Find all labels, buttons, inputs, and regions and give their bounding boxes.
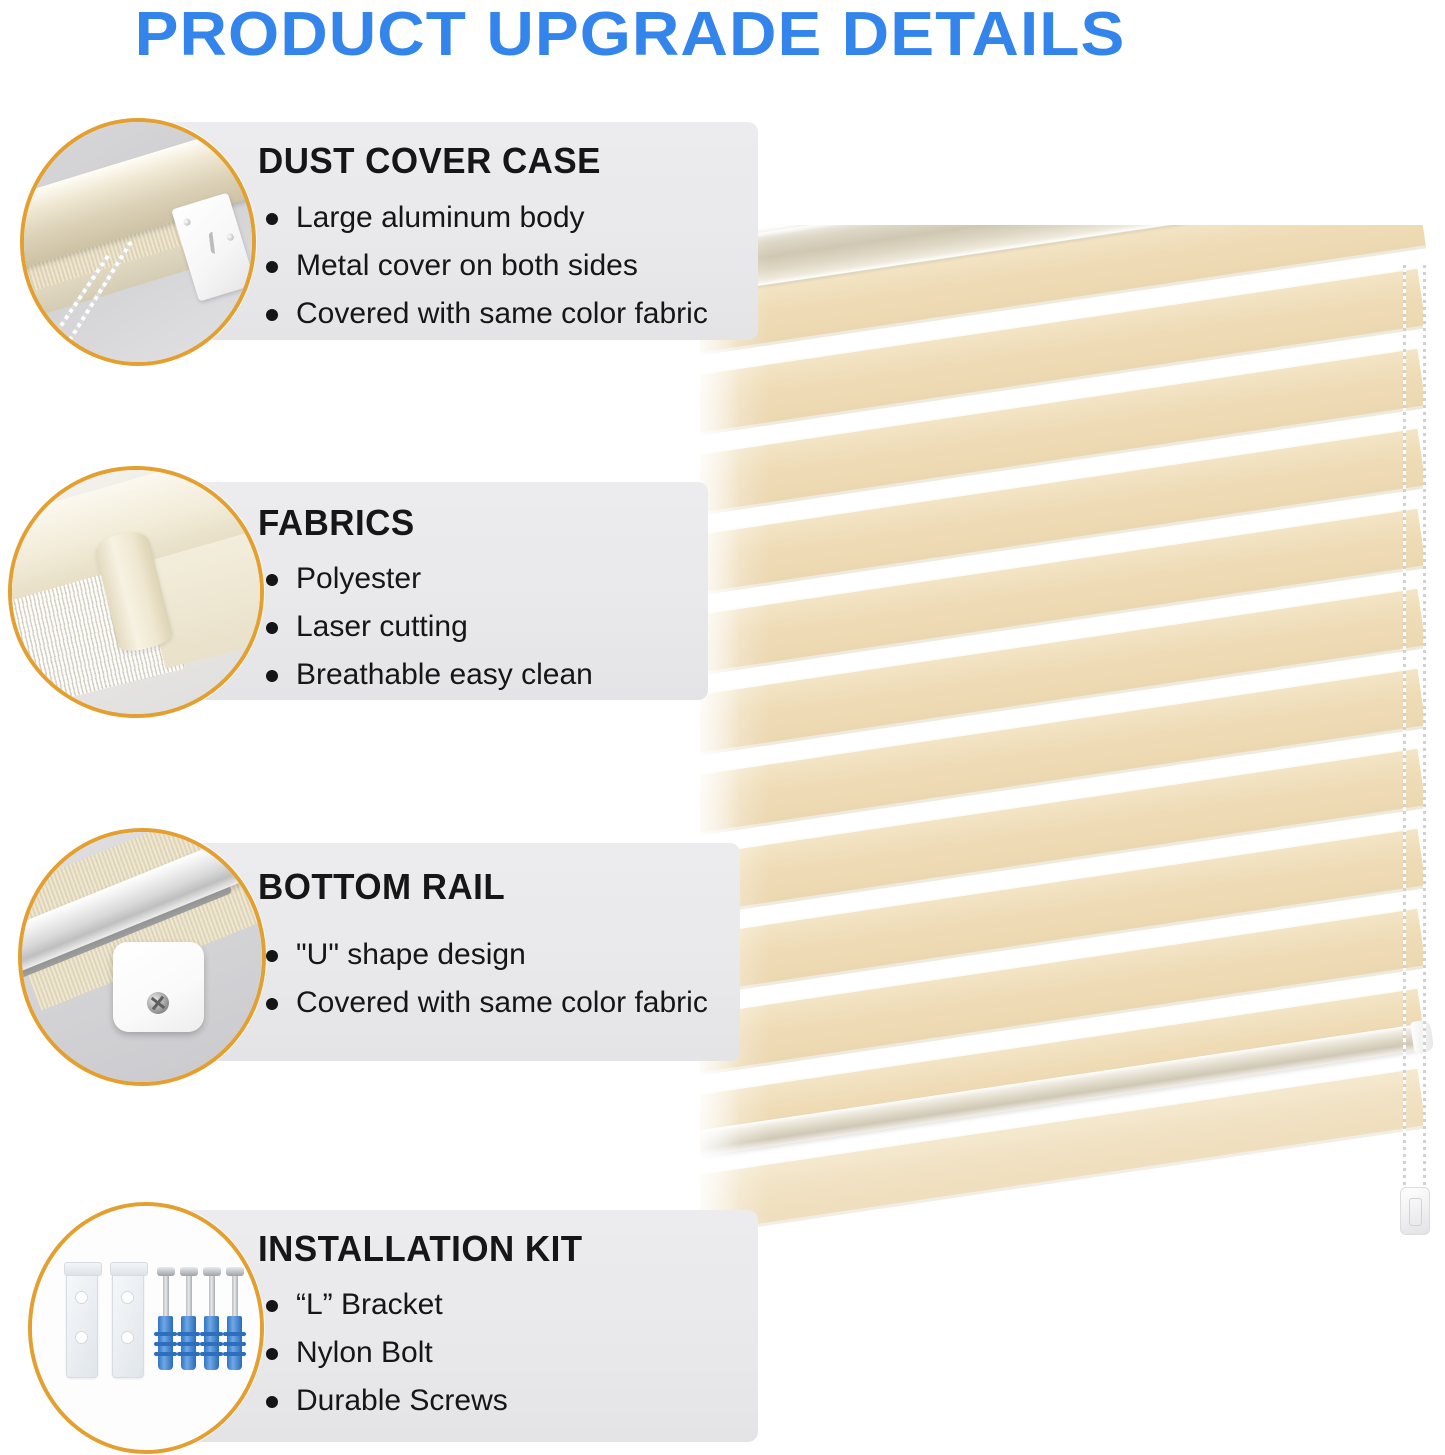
fabric-swatch-photo: [8, 466, 264, 718]
dust-cover-case-photo: [20, 118, 256, 366]
bullet-item: Metal cover on both sides: [262, 251, 708, 281]
feature-heading: DUST COVER CASE: [258, 140, 601, 182]
bullet-item: Large aluminum body: [262, 203, 708, 233]
bullet-item: Laser cutting: [262, 612, 593, 642]
l-bracket-icon: [112, 1268, 144, 1378]
screw-icon: [147, 992, 169, 1014]
bullet-item: "U" shape design: [262, 940, 708, 970]
wall-plug-icon: [158, 1316, 173, 1370]
bullet-item: Breathable easy clean: [262, 660, 593, 690]
feature-bullet-list: Large aluminum body Metal cover on both …: [262, 203, 708, 329]
l-bracket-icon: [66, 1268, 98, 1378]
bottom-rail-photo: [18, 828, 266, 1086]
feature-bullet-list: “L” Bracket Nylon Bolt Durable Screws: [262, 1290, 508, 1416]
blind-assembly: [700, 225, 1445, 1240]
product-image-zebra-blind: [700, 225, 1445, 1240]
wall-plug-icon: [204, 1316, 219, 1370]
bullet-item: Nylon Bolt: [262, 1338, 508, 1368]
page-title: PRODUCT UPGRADE DETAILS: [0, 2, 1298, 67]
wall-plug-icon: [181, 1316, 196, 1370]
chain-safety-connector: [1400, 1187, 1430, 1235]
feature-heading: INSTALLATION KIT: [258, 1228, 583, 1270]
wall-plug-icon: [227, 1316, 242, 1370]
installation-hardware-photo: [28, 1202, 264, 1454]
infographic-canvas: PRODUCT UPGRADE DETAILS: [0, 0, 1445, 1455]
bullet-item: Covered with same color fabric: [262, 988, 708, 1018]
feature-bullet-list: Polyester Laser cutting Breathable easy …: [262, 564, 593, 690]
bead-chain: [1423, 265, 1426, 1195]
bead-chain: [1403, 265, 1406, 1195]
bullet-item: Durable Screws: [262, 1386, 508, 1416]
bullet-item: Covered with same color fabric: [262, 299, 708, 329]
feature-heading: BOTTOM RAIL: [258, 866, 505, 908]
feature-heading: FABRICS: [258, 502, 415, 544]
feature-bullet-list: "U" shape design Covered with same color…: [262, 940, 708, 1018]
bullet-item: “L” Bracket: [262, 1290, 508, 1320]
bullet-item: Polyester: [262, 564, 593, 594]
